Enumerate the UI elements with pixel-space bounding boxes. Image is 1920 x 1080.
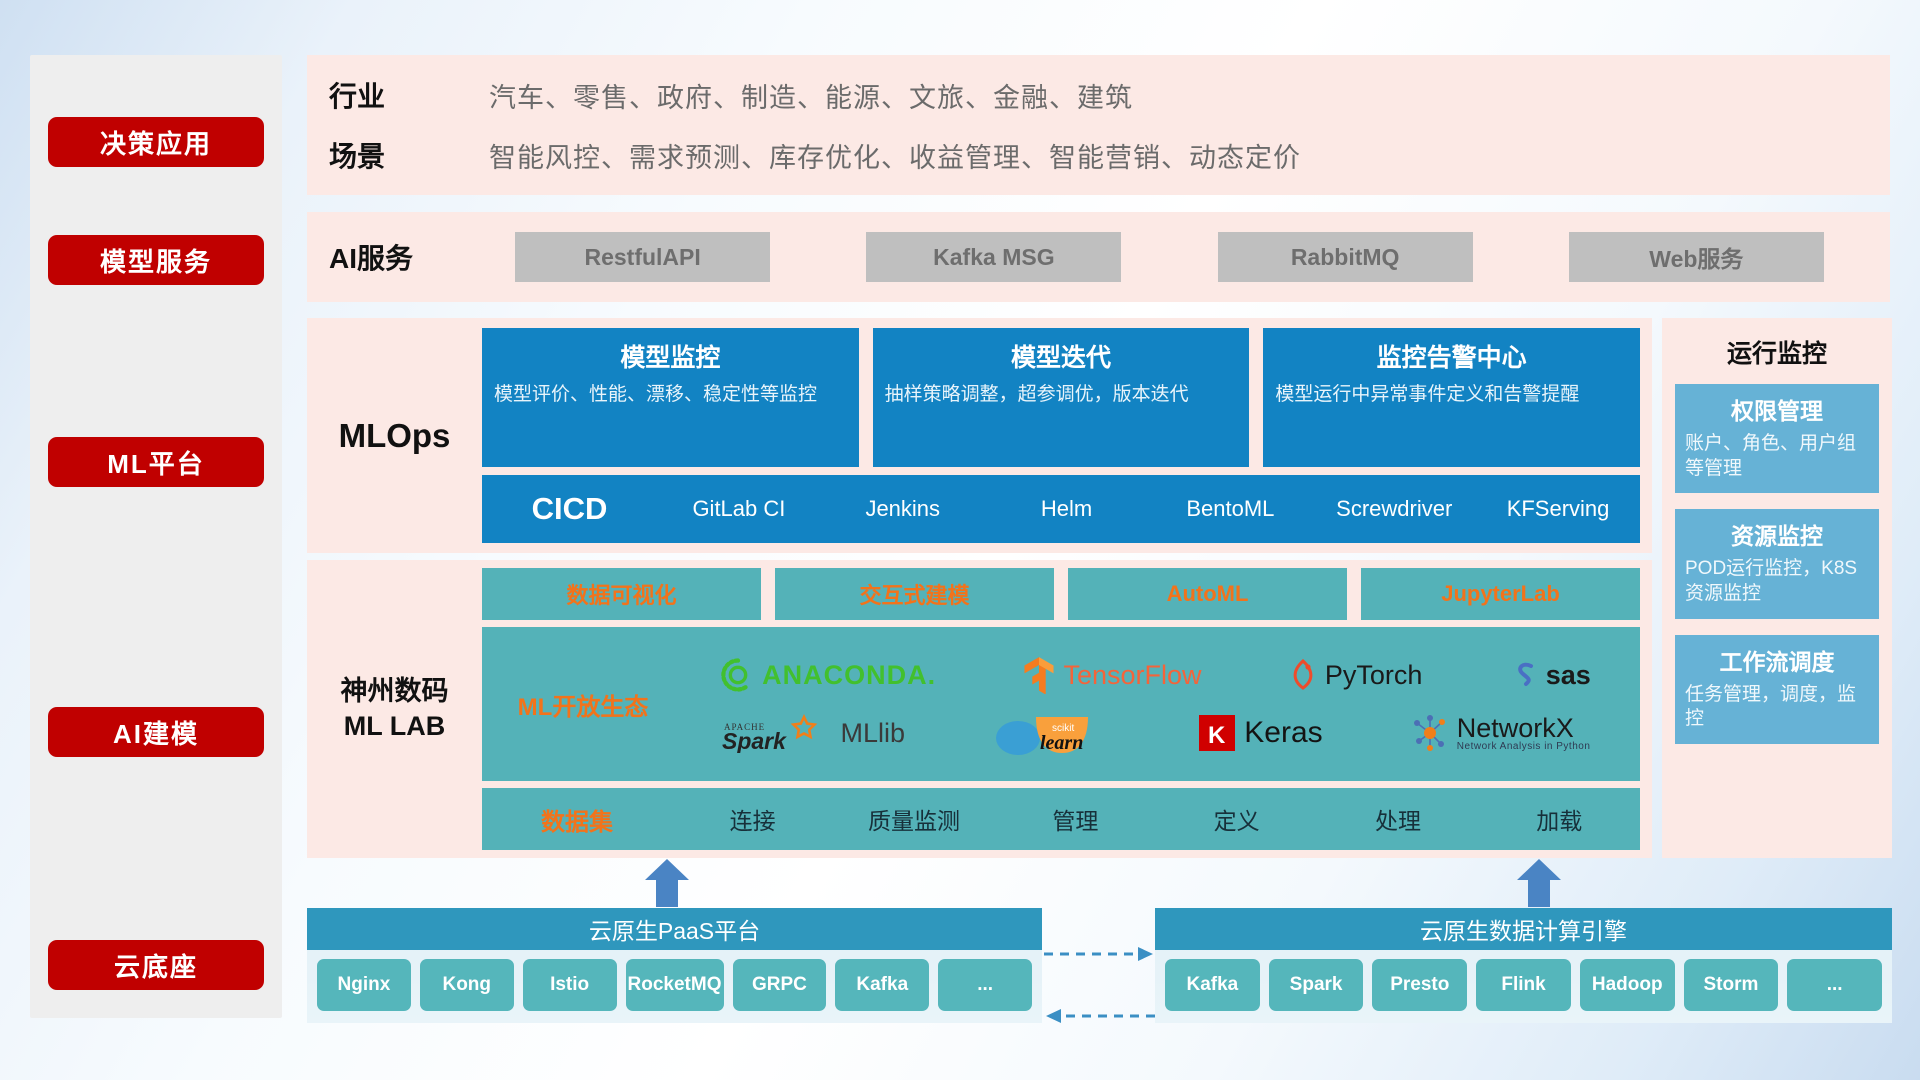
cloud-chip-nginx[interactable]: Nginx: [317, 959, 411, 1011]
ml-lab-label-line1: 神州数码: [341, 674, 449, 709]
mlops-label: MLOps: [307, 318, 482, 553]
cloud-chip-more[interactable]: ...: [938, 959, 1032, 1011]
tensorflow-logo-text: TensorFlow: [1063, 660, 1201, 691]
lab-tab-data-visualization[interactable]: 数据可视化: [482, 568, 761, 620]
card-desc: 模型运行中异常事件定义和告警提醒: [1275, 382, 1628, 408]
keras-logo-text: Keras: [1244, 716, 1322, 750]
cicd-item-helm[interactable]: Helm: [985, 496, 1149, 521]
lab-tab-jupyterlab[interactable]: JupyterLab: [1361, 568, 1640, 620]
ml-ecosystem-panel: ML开放生态 ANACONDA.: [482, 627, 1640, 781]
industry-key: 行业: [329, 75, 489, 115]
up-arrow-paas-icon: [644, 858, 690, 908]
ai-service-band: AI服务 RestfulAPI Kafka MSG RabbitMQ Web服务: [307, 212, 1890, 302]
data-chip-hadoop[interactable]: Hadoop: [1580, 959, 1675, 1011]
dataset-bar: 数据集 连接 质量监测 管理 定义 处理 加载: [482, 788, 1640, 850]
card-title: 权限管理: [1685, 392, 1869, 426]
data-chip-spark[interactable]: Spark: [1269, 959, 1364, 1011]
sas-logo: sas: [1509, 660, 1591, 691]
tensorflow-icon: [1022, 656, 1056, 694]
spark-icon: APACHE Spark: [722, 713, 834, 753]
lab-tab-interactive-modeling[interactable]: 交互式建模: [775, 568, 1054, 620]
rail-item-decision[interactable]: 决策应用: [48, 117, 264, 167]
dataset-item-load[interactable]: 加载: [1479, 802, 1640, 836]
cloud-chip-rocketmq[interactable]: RocketMQ: [626, 959, 724, 1011]
svg-text:learn: learn: [1040, 732, 1083, 754]
pytorch-icon: [1288, 658, 1318, 692]
networkx-logo-text: NetworkX: [1457, 715, 1591, 742]
card-desc: 模型评价、性能、漂移、稳定性等监控: [494, 382, 847, 408]
card-desc: POD运行监控，K8S资源监控: [1685, 557, 1869, 606]
networkx-logo-tagline: Network Analysis in Python: [1457, 742, 1591, 752]
cloud-paas-title: 云原生PaaS平台: [307, 908, 1042, 950]
monitoring-panel: 运行监控 权限管理 账户、角色、用户组等管理 资源监控 POD运行监控，K8S资…: [1662, 318, 1892, 858]
rail-label: AI建模: [113, 714, 199, 751]
mlops-card-model-iteration[interactable]: 模型迭代 抽样策略调整，超参调优，版本迭代: [873, 328, 1250, 467]
scenario-key: 场景: [329, 135, 489, 175]
dataset-item-process[interactable]: 处理: [1317, 802, 1478, 836]
service-chip-label: RabbitMQ: [1291, 244, 1400, 271]
cicd-item-kfserving[interactable]: KFServing: [1476, 496, 1640, 521]
mlops-band: MLOps 模型监控 模型评价、性能、漂移、稳定性等监控 模型迭代 抽样策略调整…: [307, 318, 1652, 553]
service-chip-restfulapi[interactable]: RestfulAPI: [515, 232, 770, 282]
service-chip-web-service[interactable]: Web服务: [1569, 232, 1824, 282]
keras-logo: K Keras: [1197, 713, 1322, 753]
rail-label: 云底座: [114, 947, 198, 984]
ml-lab-label-line2: ML LAB: [344, 709, 446, 744]
data-chip-storm[interactable]: Storm: [1684, 959, 1779, 1011]
diagram-canvas: 决策应用 模型服务 ML平台 AI建模 云底座 行业 汽车、零售、政府、制造、能…: [0, 0, 1920, 1080]
cloud-paas-block: 云原生PaaS平台 Nginx Kong Istio RocketMQ GRPC…: [307, 908, 1042, 1023]
dataset-label: 数据集: [482, 802, 672, 837]
bidirectional-dashed-arrows-icon: [1042, 940, 1157, 1032]
lab-tab-automl[interactable]: AutoML: [1068, 568, 1347, 620]
data-chip-kafka[interactable]: Kafka: [1165, 959, 1260, 1011]
up-arrow-data-engine-icon: [1516, 858, 1562, 908]
ai-service-label: AI服务: [307, 237, 467, 277]
rail-label: 决策应用: [100, 124, 212, 161]
cloud-chip-kong[interactable]: Kong: [420, 959, 514, 1011]
monitor-card-permissions[interactable]: 权限管理 账户、角色、用户组等管理: [1675, 384, 1879, 493]
rail-item-ai-modeling[interactable]: AI建模: [48, 707, 264, 757]
scikit-learn-logo: scikit learn: [992, 709, 1110, 757]
cloud-chip-kafka[interactable]: Kafka: [835, 959, 929, 1011]
service-chip-label: RestfulAPI: [584, 244, 700, 271]
keras-icon: K: [1197, 713, 1237, 753]
cloud-data-engine-block: 云原生数据计算引擎 Kafka Spark Presto Flink Hadoo…: [1155, 908, 1892, 1023]
rail-label: ML平台: [107, 444, 205, 481]
cicd-item-screwdriver[interactable]: Screwdriver: [1312, 496, 1476, 521]
monitor-card-resources[interactable]: 资源监控 POD运行监控，K8S资源监控: [1675, 509, 1879, 618]
scikit-learn-icon: scikit learn: [992, 709, 1110, 757]
card-title: 监控告警中心: [1275, 338, 1628, 374]
pytorch-logo: PyTorch: [1288, 658, 1423, 692]
dataset-item-define[interactable]: 定义: [1156, 802, 1317, 836]
industry-value: 汽车、零售、政府、制造、能源、文旅、金融、建筑: [489, 76, 1890, 115]
cicd-bar: CICD GitLab CI Jenkins Helm BentoML Scre…: [482, 475, 1640, 543]
ml-ecosystem-label: ML开放生态: [488, 687, 678, 722]
cicd-item-bentoml[interactable]: BentoML: [1148, 496, 1312, 521]
networkx-logo: NetworkX Network Analysis in Python: [1410, 713, 1591, 753]
spark-mllib-logo: APACHE Spark MLlib: [722, 713, 906, 753]
card-title: 资源监控: [1685, 517, 1869, 551]
mlops-card-alert-center[interactable]: 监控告警中心 模型运行中异常事件定义和告警提醒: [1263, 328, 1640, 467]
service-chip-kafka-msg[interactable]: Kafka MSG: [866, 232, 1121, 282]
dataset-item-connect[interactable]: 连接: [672, 802, 833, 836]
sas-icon: [1509, 660, 1539, 690]
rail-item-model-service[interactable]: 模型服务: [48, 235, 264, 285]
monitoring-title: 运行监控: [1675, 334, 1879, 370]
dataset-item-quality[interactable]: 质量监测: [833, 802, 994, 836]
cicd-title: CICD: [482, 491, 657, 527]
anaconda-icon: [721, 658, 755, 692]
rail-item-ml-platform[interactable]: ML平台: [48, 437, 264, 487]
layer-rail: 决策应用 模型服务 ML平台 AI建模 云底座: [30, 55, 282, 1018]
cloud-data-engine-title: 云原生数据计算引擎: [1155, 908, 1892, 950]
scenario-value: 智能风控、需求预测、库存优化、收益管理、智能营销、动态定价: [489, 136, 1890, 175]
cicd-item-gitlab-ci[interactable]: GitLab CI: [657, 496, 821, 521]
service-chip-label: Kafka MSG: [933, 244, 1054, 271]
data-chip-presto[interactable]: Presto: [1372, 959, 1467, 1011]
card-desc: 账户、角色、用户组等管理: [1685, 432, 1869, 481]
dataset-item-manage[interactable]: 管理: [995, 802, 1156, 836]
networkx-icon: [1410, 713, 1450, 753]
card-title: 模型迭代: [885, 338, 1238, 374]
cloud-chip-istio[interactable]: Istio: [523, 959, 617, 1011]
cloud-chip-grpc[interactable]: GRPC: [733, 959, 827, 1011]
card-title: 工作流调度: [1685, 643, 1869, 677]
data-chip-more[interactable]: ...: [1787, 959, 1882, 1011]
service-chip-label: Web服务: [1649, 240, 1743, 274]
rail-item-cloud-base[interactable]: 云底座: [48, 940, 264, 990]
sas-logo-text: sas: [1546, 660, 1591, 691]
card-desc: 任务管理，调度，监控: [1685, 683, 1869, 732]
monitor-card-workflow[interactable]: 工作流调度 任务管理，调度，监控: [1675, 635, 1879, 744]
card-title: 模型监控: [494, 338, 847, 374]
anaconda-logo-text: ANACONDA.: [762, 660, 936, 691]
anaconda-logo: ANACONDA.: [721, 658, 936, 692]
card-desc: 抽样策略调整，超参调优，版本迭代: [885, 382, 1238, 408]
rail-label: 模型服务: [100, 242, 212, 279]
ml-lab-band: 神州数码 ML LAB 数据可视化 交互式建模 AutoML JupyterLa…: [307, 560, 1652, 858]
service-chip-rabbitmq[interactable]: RabbitMQ: [1218, 232, 1473, 282]
mlops-card-model-monitoring[interactable]: 模型监控 模型评价、性能、漂移、稳定性等监控: [482, 328, 859, 467]
pytorch-logo-text: PyTorch: [1325, 660, 1423, 691]
svg-text:K: K: [1208, 722, 1226, 749]
application-layer-band: 行业 汽车、零售、政府、制造、能源、文旅、金融、建筑 场景 智能风控、需求预测、…: [307, 55, 1890, 195]
tensorflow-logo: TensorFlow: [1022, 656, 1201, 694]
ml-lab-label: 神州数码 ML LAB: [307, 560, 482, 858]
data-chip-flink[interactable]: Flink: [1476, 959, 1571, 1011]
cicd-item-jenkins[interactable]: Jenkins: [821, 496, 985, 521]
svg-text:Spark: Spark: [722, 728, 787, 753]
